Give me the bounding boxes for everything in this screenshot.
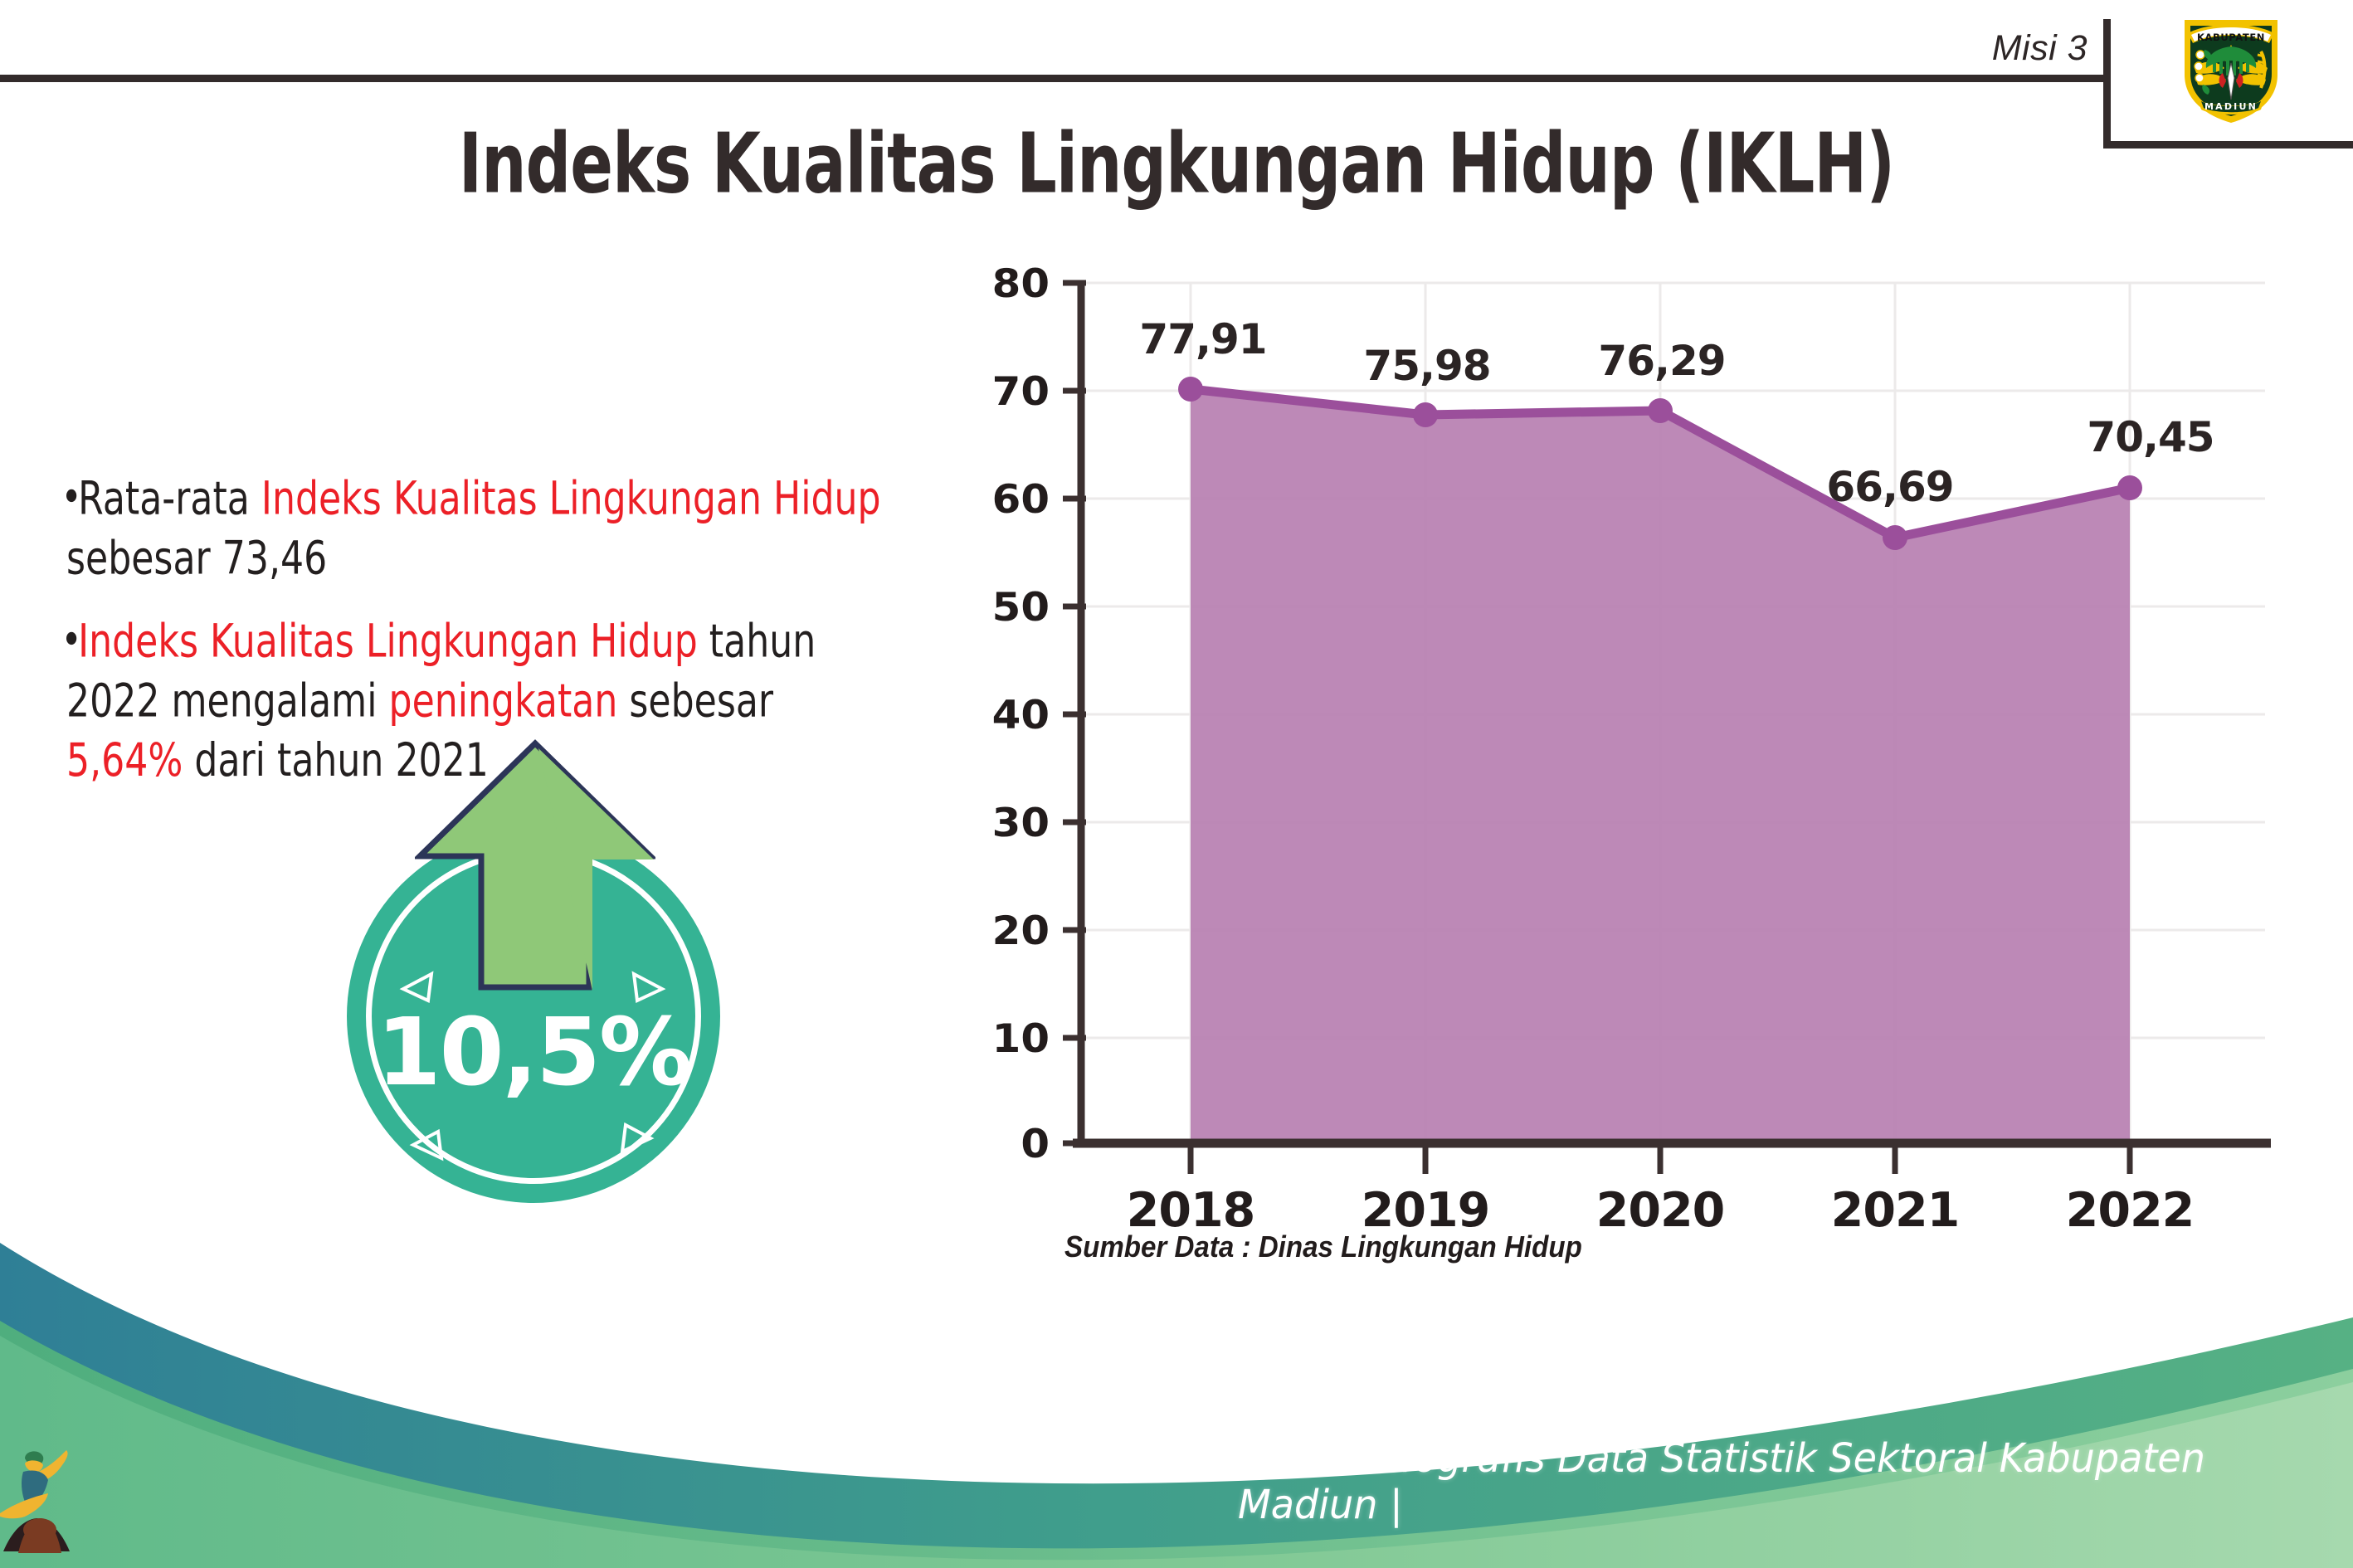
footer-caption: Media Infografis Data Statistik Sektoral… <box>1238 1435 2308 1528</box>
chart-x-ticks <box>1191 1143 2130 1174</box>
bullet-text-0-hl: Indeks Kualitas Lingkungan Hidup <box>261 472 881 526</box>
y-tick-label: 10 <box>952 1016 1050 1062</box>
bullet-text-1-hl2: peningkatan <box>389 674 618 728</box>
triangle-marker-icon <box>614 1122 657 1155</box>
data-label: 70,45 <box>2055 413 2246 461</box>
y-tick-label: 0 <box>952 1122 1050 1167</box>
kabupaten-madiun-crest-icon: KABUPATEN MADIUN <box>2176 8 2286 124</box>
statistics-mascot-icon <box>0 1444 88 1568</box>
y-tick-label: 60 <box>952 477 1050 523</box>
data-label: 77,91 <box>1108 315 1298 363</box>
bullet-dot-icon <box>66 632 76 645</box>
misi-label: Misi 3 <box>1992 28 2087 69</box>
y-tick-label: 80 <box>952 261 1050 307</box>
iklh-area-chart: 80 70 60 50 40 30 20 10 0 2018 2019 2020… <box>983 274 2277 1203</box>
bullet-text-1b: sebesar <box>617 674 773 728</box>
header-rule <box>0 75 2103 82</box>
y-tick-label: 20 <box>952 908 1050 954</box>
up-arrow-icon <box>415 738 655 1004</box>
list-item: Rata-rata Indeks Kualitas Lingkungan Hid… <box>66 469 901 588</box>
y-tick-label: 70 <box>952 369 1050 415</box>
bullet-text-1-hl3: 5,64% <box>66 734 183 788</box>
triangle-marker-icon <box>407 1128 450 1161</box>
page-title: Indeks Kualitas Lingkungan Hidup (IKLH) <box>82 116 2270 212</box>
data-label: 66,69 <box>1795 463 1985 511</box>
svg-text:MADIUN: MADIUN <box>2204 101 2258 112</box>
bullet-text-0b: sebesar 73,46 <box>66 532 327 586</box>
bullet-text-0: Rata-rata <box>78 472 261 526</box>
badge-value: 10,5% <box>347 999 720 1107</box>
y-tick-label: 50 <box>952 585 1050 631</box>
data-label: 75,98 <box>1332 342 1522 390</box>
bullet-dot-icon <box>66 489 76 502</box>
chart-area-fill <box>1191 389 2130 1143</box>
footer: Media Infografis Data Statistik Sektoral… <box>0 1220 2353 1568</box>
y-tick-label: 40 <box>952 693 1050 738</box>
data-label: 76,29 <box>1566 337 1757 385</box>
y-tick-label: 30 <box>952 801 1050 846</box>
bullet-text-1-hl: Indeks Kualitas Lingkungan Hidup <box>78 615 698 669</box>
increase-badge: 10,5% <box>347 830 720 1203</box>
svg-text:KABUPATEN: KABUPATEN <box>2197 32 2265 43</box>
